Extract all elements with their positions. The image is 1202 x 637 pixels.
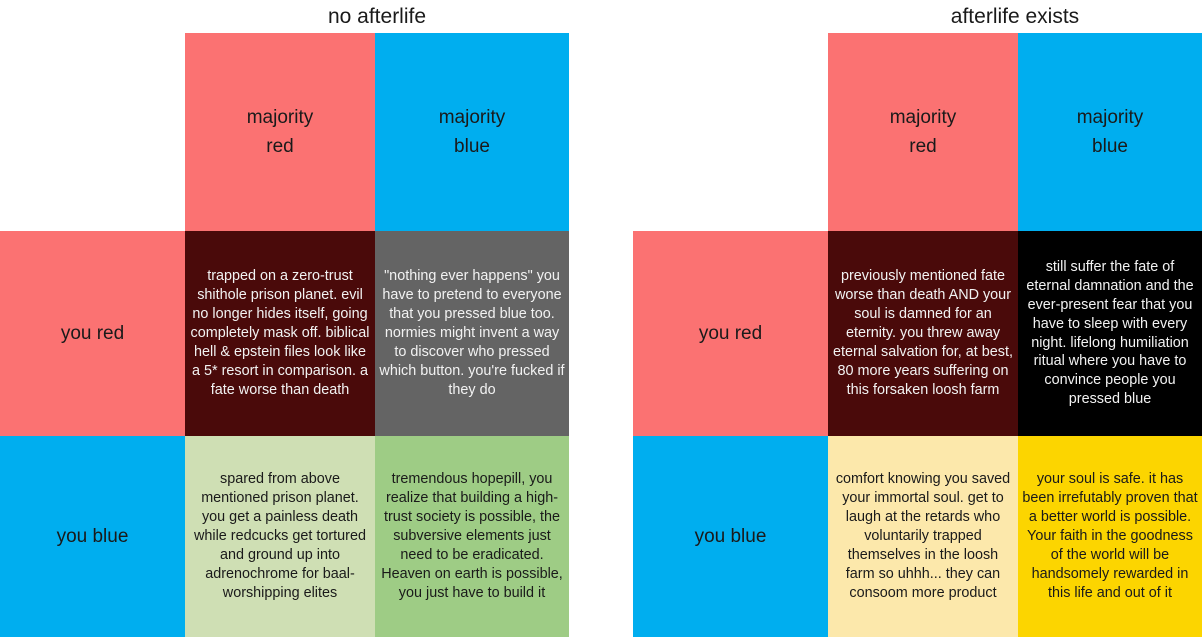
matrix-title-left: no afterlife [185,2,569,32]
cell-right-blue-blue: your soul is safe. it has been irrefutab… [1018,436,1202,637]
cell-right-red-blue: still suffer the fate of eternal damnati… [1018,231,1202,436]
cell-left-red-red: trapped on a zero-trust shithole prison … [185,231,375,436]
cell-left-blue-blue: tremendous hopepill, you realize that bu… [375,436,569,637]
cell-right-red-red: previously mentioned fate worse than dea… [828,231,1018,436]
row-header-you-blue-right: you blue [633,436,828,637]
column-header-majority-blue-left: majority blue [375,33,569,231]
column-header-line2: red [890,132,957,161]
column-header-line1: majority [439,103,506,132]
column-header-line1: majority [890,103,957,132]
column-header-line2: blue [1077,132,1144,161]
column-header-line2: blue [439,132,506,161]
row-header-you-blue-left: you blue [0,436,185,637]
column-header-line1: majority [1077,103,1144,132]
column-header-line2: red [247,132,314,161]
matrix-afterlife-exists: afterlife exists majority red majority b… [633,0,1202,637]
cell-left-blue-red: spared from above mentioned prison plane… [185,436,375,637]
row-header-you-red-right: you red [633,231,828,436]
matrix-no-afterlife: no afterlife majority red majority blue … [0,0,569,637]
column-header-majority-red-left: majority red [185,33,375,231]
column-header-majority-red-right: majority red [828,33,1018,231]
row-header-you-red-left: you red [0,231,185,436]
column-header-majority-blue-right: majority blue [1018,33,1202,231]
column-header-line1: majority [247,103,314,132]
payoff-matrix-figure: no afterlife majority red majority blue … [0,0,1202,637]
matrix-title-right: afterlife exists [828,2,1202,32]
cell-left-red-blue: "nothing ever happens" you have to prete… [375,231,569,436]
cell-right-blue-red: comfort knowing you saved your immortal … [828,436,1018,637]
